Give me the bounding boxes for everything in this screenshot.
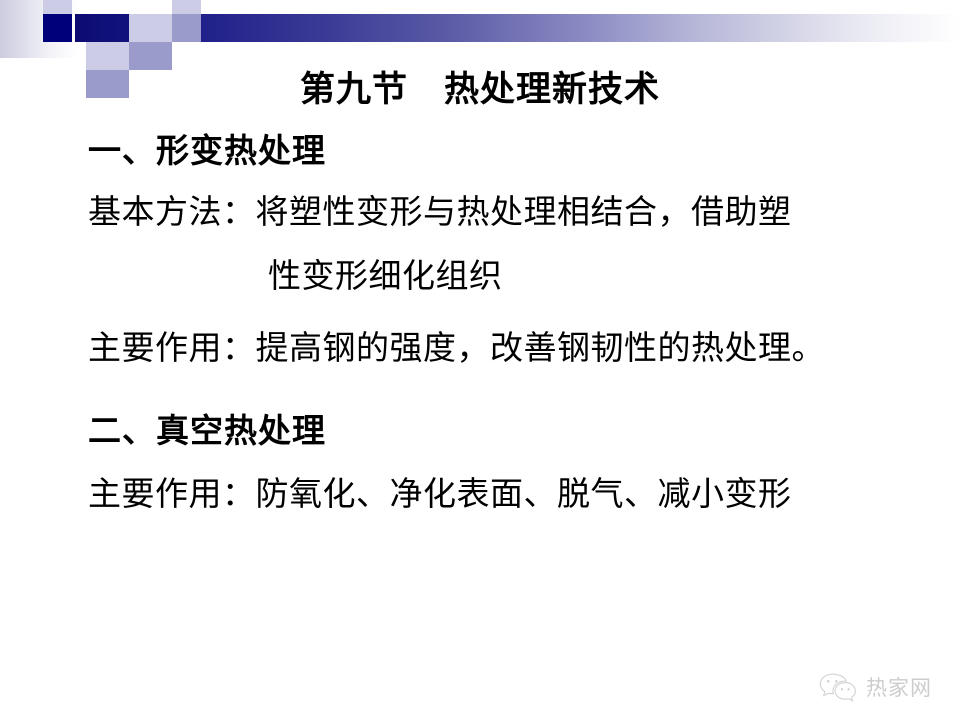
- decoration-square-light-2: [172, 0, 201, 14]
- section-heading-1: 一、形变热处理: [88, 130, 938, 172]
- watermark: 热家网: [818, 672, 932, 702]
- spacer-before-heading-2: [88, 370, 938, 410]
- decoration-square-light-1: [43, 0, 72, 14]
- slide-canvas: 第九节 热处理新技术 一、形变热处理 基本方法：将塑性变形与热处理相结合，借助塑…: [0, 0, 960, 720]
- decoration-square-light-4: [86, 42, 129, 70]
- spacer-after-heading-2: [88, 452, 938, 474]
- section-heading-2: 二、真空热处理: [88, 410, 938, 452]
- wechat-icon: [818, 672, 858, 702]
- decoration-square-light-3: [129, 14, 172, 42]
- decoration-square-mid-1: [172, 14, 201, 42]
- spacer-line-1: [88, 234, 938, 256]
- decoration-square-navy-1: [43, 14, 72, 42]
- section-1-line-2: 性变形细化组织: [88, 256, 938, 298]
- section-1-line-3: 主要作用：提高钢的强度，改善钢韧性的热处理。: [88, 328, 938, 370]
- slide-content: 一、形变热处理 基本方法：将塑性变形与热处理相结合，借助塑 性变形细化组织 主要…: [88, 130, 938, 516]
- slide-title: 第九节 热处理新技术: [0, 68, 960, 112]
- decoration-gradient-bar: [75, 14, 960, 42]
- top-decoration: [0, 0, 960, 72]
- decoration-square-mid-2: [129, 42, 172, 70]
- section-1-line-1: 基本方法：将塑性变形与热处理相结合，借助塑: [88, 192, 938, 234]
- section-2-line-1: 主要作用：防氧化、净化表面、脱气、减小变形: [88, 474, 938, 516]
- spacer-after-heading-1: [88, 172, 938, 192]
- watermark-text: 热家网: [866, 672, 932, 702]
- spacer-line-2: [88, 298, 938, 328]
